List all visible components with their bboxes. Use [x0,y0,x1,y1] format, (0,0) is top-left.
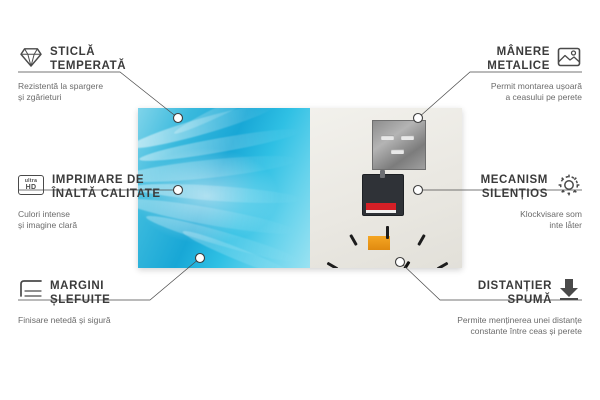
callout-title: DISTANȚIER SPUMĂ [392,278,552,307]
dot-distantier [396,258,405,267]
gear-icon [556,172,582,198]
callout-title: MECANISM SILENȚIOS [422,172,548,201]
dot-manere [414,114,423,123]
callout-sticla-temperata: STICLĂ TEMPERATĂ Rezistentă la spargere … [18,44,158,103]
callout-imprimare-hd: ultraHD IMPRIMARE DE ÎNALTĂ CALITATE Cul… [18,172,163,231]
dot-imprimare [174,186,183,195]
callout-margini-slefuite: MARGINI ȘLEFUITE Finisare netedă și sigu… [18,278,168,326]
callout-title: STICLĂ TEMPERATĂ [50,44,158,73]
polished-edges-icon [18,276,44,302]
callout-title: IMPRIMARE DE ÎNALTĂ CALITATE [52,172,163,201]
infographic-stage: STICLĂ TEMPERATĂ Rezistentă la spargere … [0,0,600,400]
callout-manere-metalice: MÂNERE METALICE Permit montarea ușoară a… [422,44,582,103]
callout-distantier-spuma: DISTANȚIER SPUMĂ Permite menținerea unei… [392,278,582,337]
dot-margini [196,254,205,263]
spacer-arrow-icon [556,276,582,302]
ultra-hd-icon: ultraHD [18,172,44,198]
callout-sub: Finisare netedă și sigură [18,315,168,326]
callout-sub: Klockvisare som inte låter [422,209,582,231]
callout-mecanism-silentios: MECANISM SILENȚIOS Klockvisare som inte … [422,172,582,231]
callout-sub: Permit montarea ușoară a ceasului pe per… [422,81,582,103]
callout-sub: Rezistentă la spargere și zgârieturi [18,81,158,103]
callout-sub: Permite menținerea unei distanțe constan… [392,315,582,337]
diamond-icon [18,44,44,70]
dot-sticla [174,114,183,123]
callout-title: MÂNERE METALICE [422,44,550,73]
wall-mount-icon [556,44,582,70]
callout-title: MARGINI ȘLEFUITE [50,278,168,307]
callout-sub: Culori intense și imagine clară [18,209,163,231]
